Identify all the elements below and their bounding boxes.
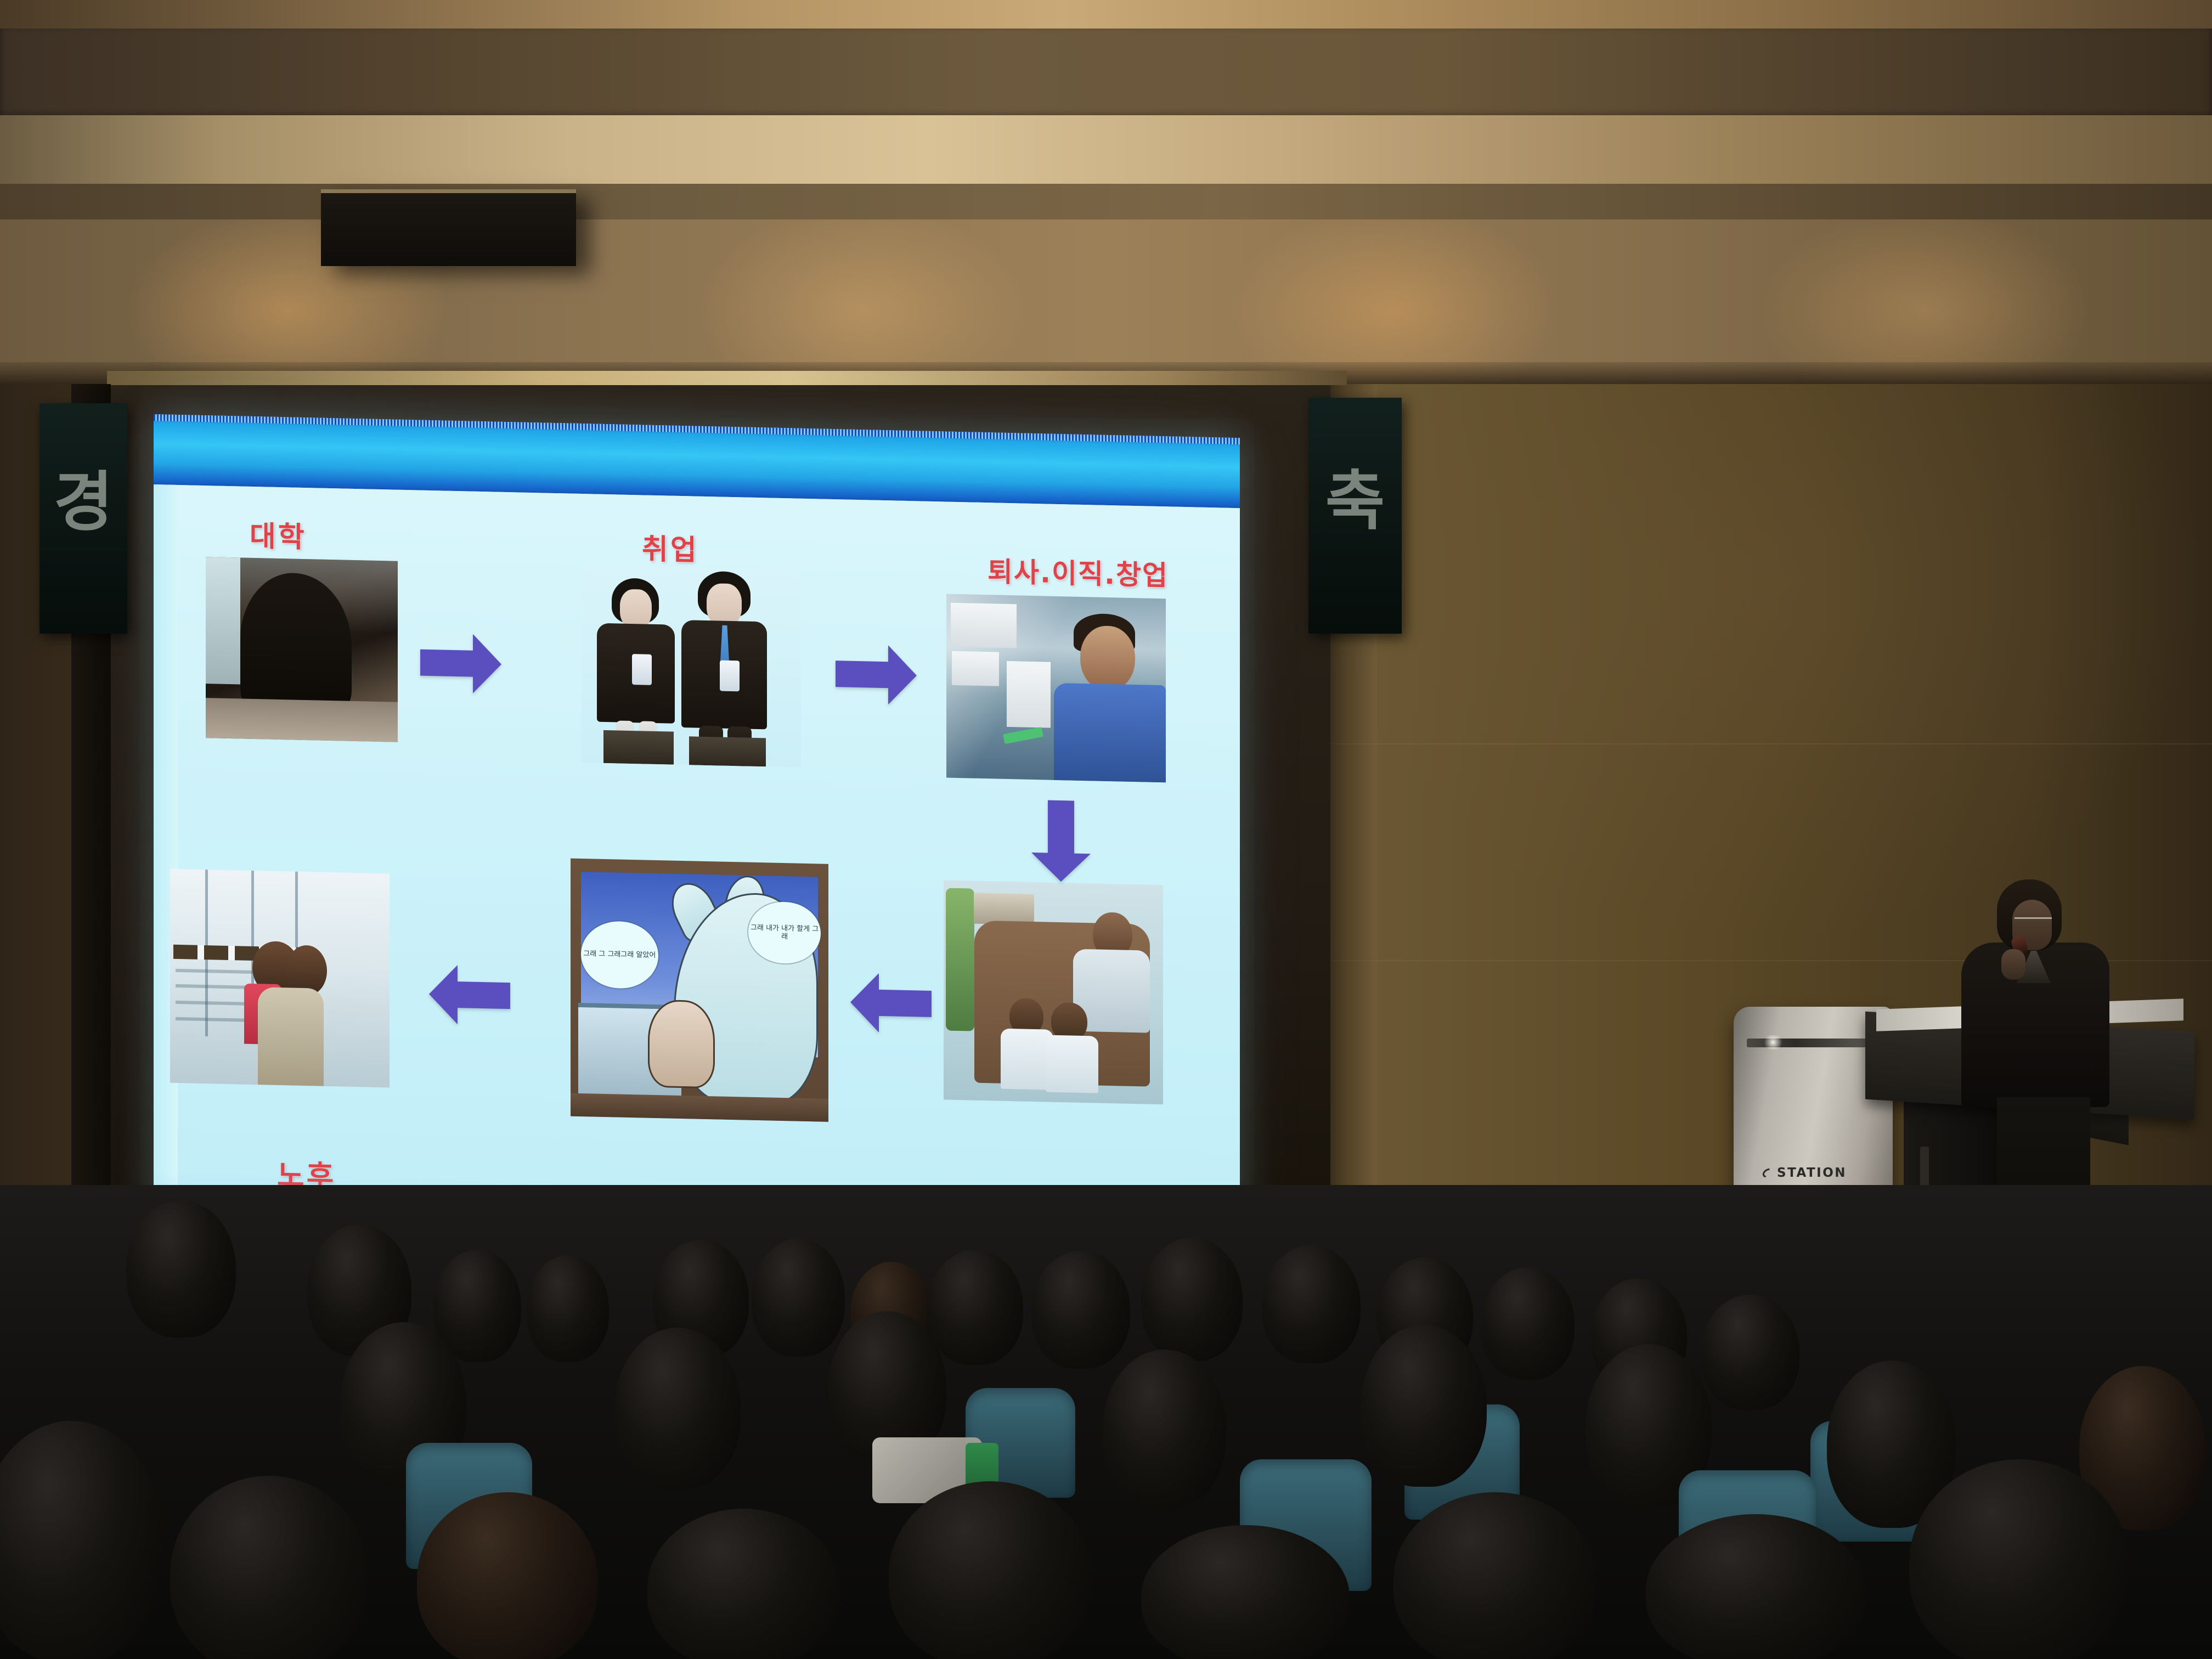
- photo-family-on-sofa: [944, 880, 1163, 1104]
- glasses-icon: [2015, 917, 2052, 924]
- photo-student-silhouette: [240, 572, 352, 716]
- audience-head: [1031, 1251, 1130, 1369]
- slide-canvas: 대학 취업 퇴사.이직.창업 노후 자녀 결혼: [154, 414, 1240, 1261]
- audience-head: [889, 1481, 1092, 1659]
- arrow-left-icon: [849, 972, 932, 1035]
- projection-screen: 대학 취업 퇴사.이직.창업 노후 자녀 결혼: [154, 414, 1240, 1261]
- office-papers: [951, 603, 1017, 648]
- office-man-shirt: [1054, 683, 1166, 782]
- station-brand-label: STATION: [1762, 1166, 1847, 1180]
- audience-head: [1103, 1350, 1226, 1509]
- audience-head: [614, 1328, 741, 1489]
- banner-right-chuk: 축: [1308, 398, 1402, 634]
- photo-job-applicants: [582, 565, 801, 768]
- step-label-resign-change-startup: 퇴사.이직.창업: [988, 550, 1169, 593]
- audience-head: [1909, 1459, 2129, 1659]
- audience-head: [752, 1239, 845, 1357]
- slide-body: 대학 취업 퇴사.이직.창업 노후 자녀 결혼: [154, 484, 1240, 1261]
- family-plant: [946, 888, 974, 1031]
- office-papers: [952, 651, 999, 686]
- screen-top-rail: [107, 371, 1347, 385]
- cartoon-ground: [571, 1093, 828, 1122]
- station-light-glint: [1762, 1035, 1784, 1049]
- audience-head: [1141, 1525, 1350, 1659]
- audience-head: [1646, 1514, 1865, 1659]
- applicant-2-chair: [689, 736, 766, 766]
- audience-head: [1141, 1238, 1243, 1361]
- auditorium-presentation-photo: 대학 취업 퇴사.이직.창업 노후 자녀 결혼: [0, 0, 2212, 1659]
- audience-head: [927, 1250, 1023, 1365]
- audience-head: [647, 1509, 839, 1659]
- photo-desk: [206, 698, 398, 742]
- photo-window: [206, 557, 240, 684]
- audience-head: [1262, 1245, 1361, 1363]
- ceiling-band-lit: [0, 115, 2212, 187]
- arrow-right-icon: [420, 632, 503, 695]
- office-highlighter: [1003, 727, 1043, 744]
- ceiling-band-upper: [0, 0, 2212, 33]
- photo-student-studying: [206, 557, 398, 742]
- step-label-employment: 취업: [642, 526, 699, 568]
- arrow-right-icon: [836, 643, 918, 706]
- arrow-down-icon: [1030, 800, 1092, 883]
- step-label-university: 대학: [250, 513, 307, 555]
- audience-head: [1361, 1325, 1487, 1487]
- banner-left-gyeong: 경: [39, 403, 127, 634]
- audience-head: [1481, 1267, 1575, 1380]
- audience-head: [527, 1255, 609, 1362]
- office-papers: [1007, 661, 1051, 728]
- station-brand-text: STATION: [1777, 1166, 1847, 1180]
- audience-head: [417, 1492, 598, 1659]
- applicant-2-badge: [720, 661, 740, 692]
- photo-elderly-at-bank: [170, 869, 390, 1088]
- kangaroo-joey: [648, 999, 715, 1088]
- wall-mounted-speaker-icon: [321, 189, 576, 266]
- swoosh-logo-icon: [1761, 1167, 1774, 1180]
- family-shelf: [974, 893, 1034, 925]
- photo-office-worker-thinking: [946, 594, 1166, 783]
- family-child-body: [1046, 1035, 1098, 1093]
- audience-head: [126, 1200, 236, 1338]
- office-man-head: [1080, 625, 1135, 691]
- presenter-hand: [2001, 949, 2025, 980]
- ceiling-band-dark: [0, 29, 2212, 119]
- audience-head: [1393, 1492, 1596, 1659]
- applicant-1-badge: [632, 654, 652, 685]
- screen-left-light-strip: [154, 484, 178, 1238]
- wall-panel-seam: [1328, 743, 2212, 744]
- speaker-side-face: [556, 193, 577, 266]
- photo-kangaroo-cartoon: 그래 그 그래그래 알았어 그래 내가 내가 할게 그래: [571, 859, 828, 1122]
- audience-head: [1701, 1295, 1799, 1410]
- bank-customer-body: [258, 987, 324, 1086]
- audience-area: [0, 1185, 2212, 1659]
- applicant-1-chair: [603, 730, 674, 765]
- arrow-left-icon: [428, 963, 510, 1026]
